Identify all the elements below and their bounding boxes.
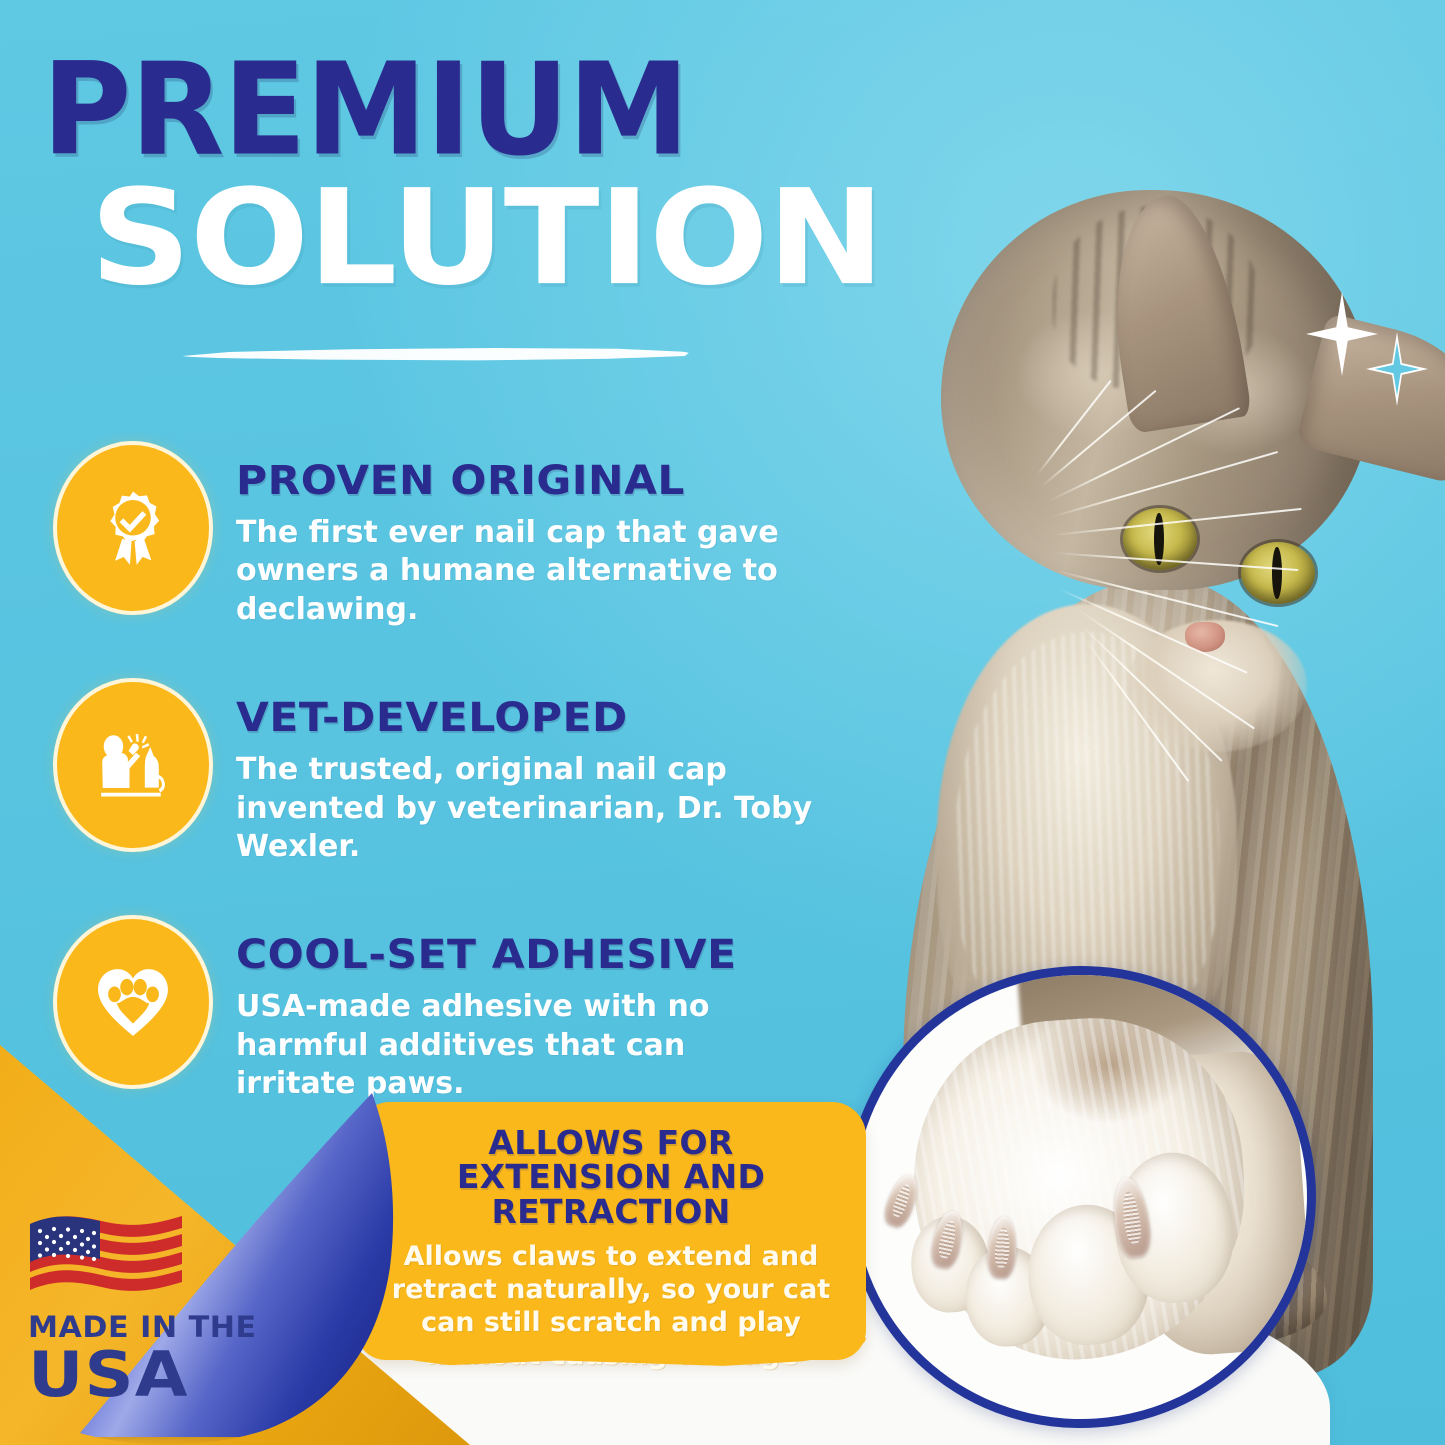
sparkle-star-outline (1366, 332, 1428, 406)
made-in-usa-badge: MADE IN THE USA (28, 1204, 254, 1403)
sparkle-glyph-outline (1366, 332, 1428, 406)
feature-description: The first ever nail cap that gave owners… (236, 514, 806, 629)
callout-description: Allows claws to extend and retract natur… (382, 1241, 840, 1373)
headline-line-1: PREMIUM (42, 52, 935, 169)
feature-title: PROVEN ORIGINAL (236, 458, 840, 504)
heart-paw-print-icon (64, 926, 202, 1078)
feature-list: PROVEN ORIGINAL The first ever nail cap … (64, 452, 824, 1164)
extension-retraction-callout: ALLOWS FOR EXTENSION AND RETRACTION Allo… (356, 1102, 866, 1360)
cat-whiskers (881, 438, 1381, 738)
feature-description: The trusted, original nail cap invented … (236, 751, 816, 866)
feature-description: USA-made adhesive with no harmful additi… (236, 988, 806, 1103)
feature-item: VET-DEVELOPED The trusted, original nail… (64, 689, 824, 866)
feature-title: COOL-SET ADHESIVE (236, 932, 840, 978)
made-in-usa-line-2: USA (28, 1346, 277, 1403)
feature-title: VET-DEVELOPED (236, 695, 851, 741)
feature-item: COOL-SET ADHESIVE USA-made adhesive with… (64, 926, 824, 1103)
callout-title: ALLOWS FOR EXTENSION AND RETRACTION (382, 1126, 840, 1229)
award-ribbon-check-icon (64, 452, 202, 604)
veterinarian-high-five-cat-icon (64, 689, 202, 841)
product-infographic: PREMIUM SOLUTION PROVEN ORIGINAL Th (0, 0, 1445, 1445)
usa-flag-icon (28, 1204, 184, 1296)
feature-text: PROVEN ORIGINAL The first ever nail cap … (236, 452, 806, 629)
headline-line-2: SOLUTION (90, 177, 1055, 301)
headline-divider-swoosh (178, 344, 690, 364)
feature-text: VET-DEVELOPED The trusted, original nail… (236, 689, 816, 866)
page-title: PREMIUM SOLUTION (42, 52, 832, 279)
cat-ear-left (1096, 188, 1252, 434)
feature-text: COOL-SET ADHESIVE USA-made adhesive with… (236, 926, 806, 1103)
feature-item: PROVEN ORIGINAL The first ever nail cap … (64, 452, 824, 629)
